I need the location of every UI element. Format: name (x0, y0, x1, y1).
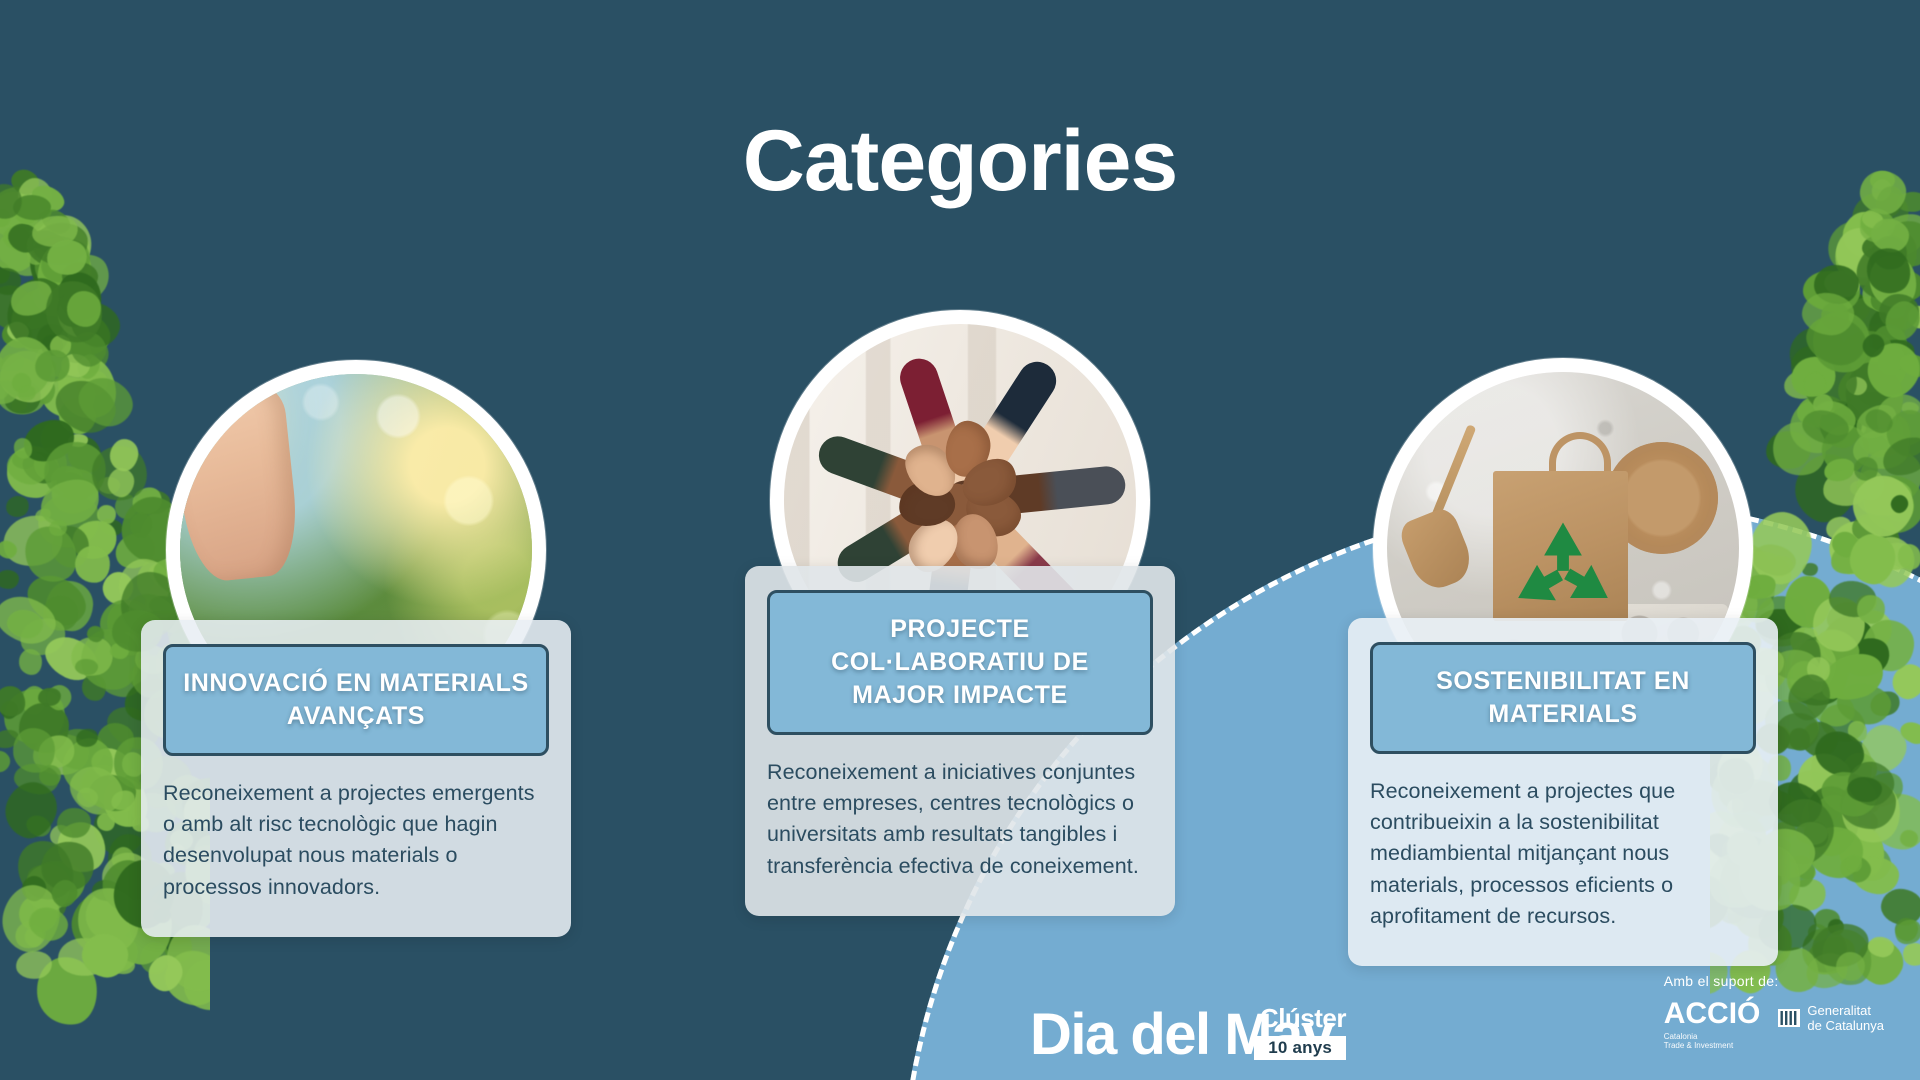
category-panel: PROJECTE COL·LABORATIU DE MAJOR IMPACTE … (745, 566, 1175, 916)
sponsor-block: Amb el suport de: ACCIÓ Catalonia Trade … (1664, 973, 1884, 1050)
event-logo[interactable]: Dia del Mav Clúster 10 anys (1030, 1007, 1350, 1062)
recycle-icon (1503, 513, 1623, 631)
category-card-projecte-collaboratiu[interactable]: PROJECTE COL·LABORATIU DE MAJOR IMPACTE … (745, 566, 1175, 916)
generalitat-line-2: de Catalunya (1807, 1018, 1884, 1033)
category-title-badge: PROJECTE COL·LABORATIU DE MAJOR IMPACTE (767, 590, 1153, 735)
generalitat-logo[interactable]: Generalitat de Catalunya (1778, 999, 1884, 1034)
category-description: Reconeixement a iniciatives conjuntes en… (767, 757, 1153, 882)
hand-shape (180, 374, 302, 584)
slide-canvas: Categories INNOVACIÓ EN MATERIALS AVANÇA… (0, 0, 1920, 1080)
page-title: Categories (0, 118, 1920, 204)
accio-sub-line-1: Catalonia (1664, 1032, 1761, 1041)
accio-logo-text: ACCIÓ (1664, 999, 1761, 1029)
accio-logo[interactable]: ACCIÓ Catalonia Trade & Investment (1664, 999, 1761, 1050)
category-title-badge: SOSTENIBILITAT EN MATERIALS (1370, 642, 1756, 754)
category-card-innovacio[interactable]: INNOVACIÓ EN MATERIALS AVANÇATS Reconeix… (141, 620, 571, 937)
category-description: Reconeixement a projectes que contribuei… (1370, 776, 1756, 932)
category-panel: INNOVACIÓ EN MATERIALS AVANÇATS Reconeix… (141, 620, 571, 937)
category-panel: SOSTENIBILITAT EN MATERIALS Reconeixemen… (1348, 618, 1778, 966)
category-title-badge: INNOVACIÓ EN MATERIALS AVANÇATS (163, 644, 549, 756)
generalitat-line-1: Generalitat (1807, 1003, 1884, 1018)
event-logo-cluster-label: Clúster (1260, 1003, 1346, 1034)
category-description: Reconeixement a projectes emergents o am… (163, 778, 549, 903)
event-logo-anniversary-badge: 10 anys (1254, 1036, 1346, 1060)
sponsor-label: Amb el suport de: (1664, 973, 1884, 989)
accio-sub-line-2: Trade & Investment (1664, 1041, 1761, 1050)
generalitat-shield-icon (1778, 1007, 1800, 1029)
category-card-sostenibilitat[interactable]: SOSTENIBILITAT EN MATERIALS Reconeixemen… (1348, 618, 1778, 966)
